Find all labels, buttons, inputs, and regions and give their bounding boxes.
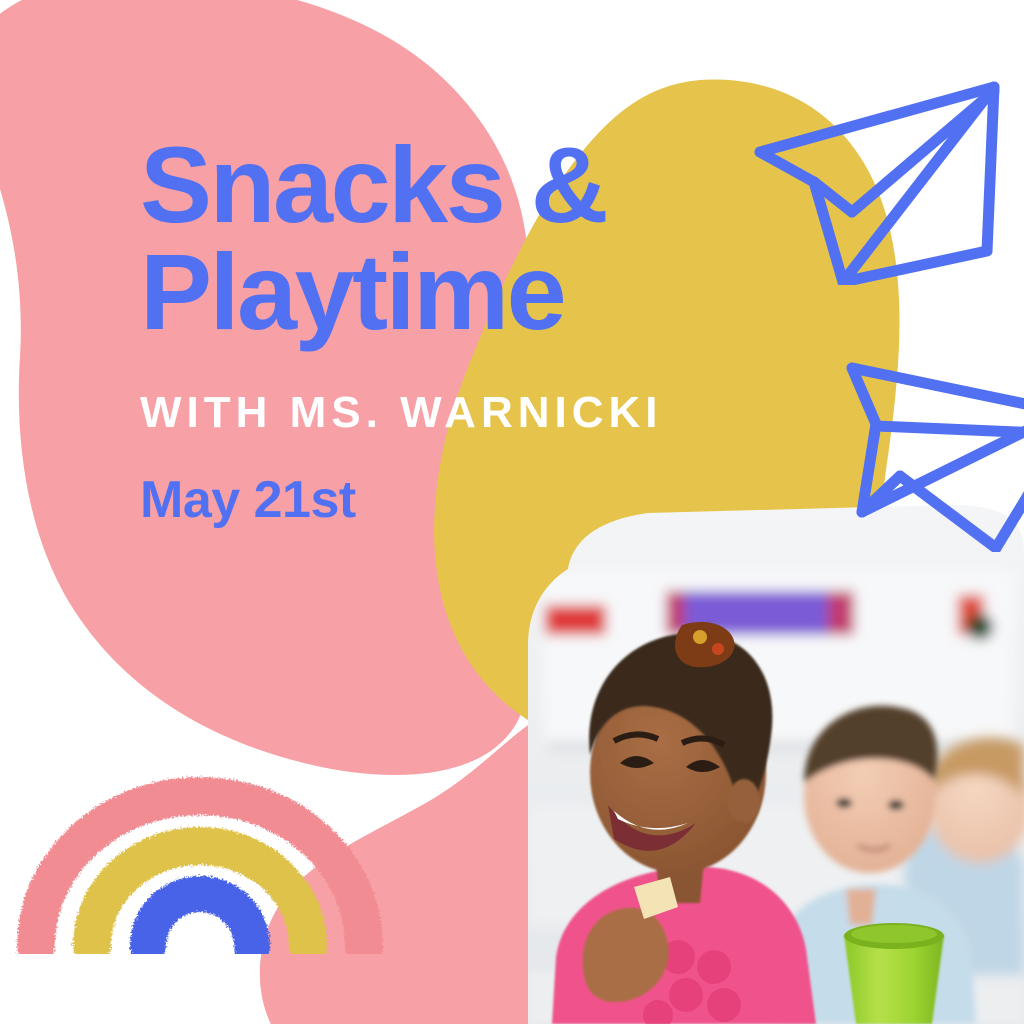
photo-green-cup — [844, 923, 944, 1024]
rainbow-arc-blue — [148, 894, 252, 946]
poster-subhead: WITH MS. WARNICKI — [140, 346, 840, 438]
photo-children-snacking — [528, 505, 1024, 1024]
rainbow-icon — [4, 692, 396, 954]
paper-plane-icon-bottom[interactable] — [838, 352, 1024, 552]
photo-illustration — [528, 505, 1024, 1024]
poster-date: May 21st — [140, 438, 840, 530]
poster-headline: Snacks & Playtime — [140, 132, 840, 346]
poster-canvas: Snacks & Playtime WITH MS. WARNICKI May … — [0, 0, 1024, 1024]
text-block: Snacks & Playtime WITH MS. WARNICKI May … — [140, 132, 840, 530]
